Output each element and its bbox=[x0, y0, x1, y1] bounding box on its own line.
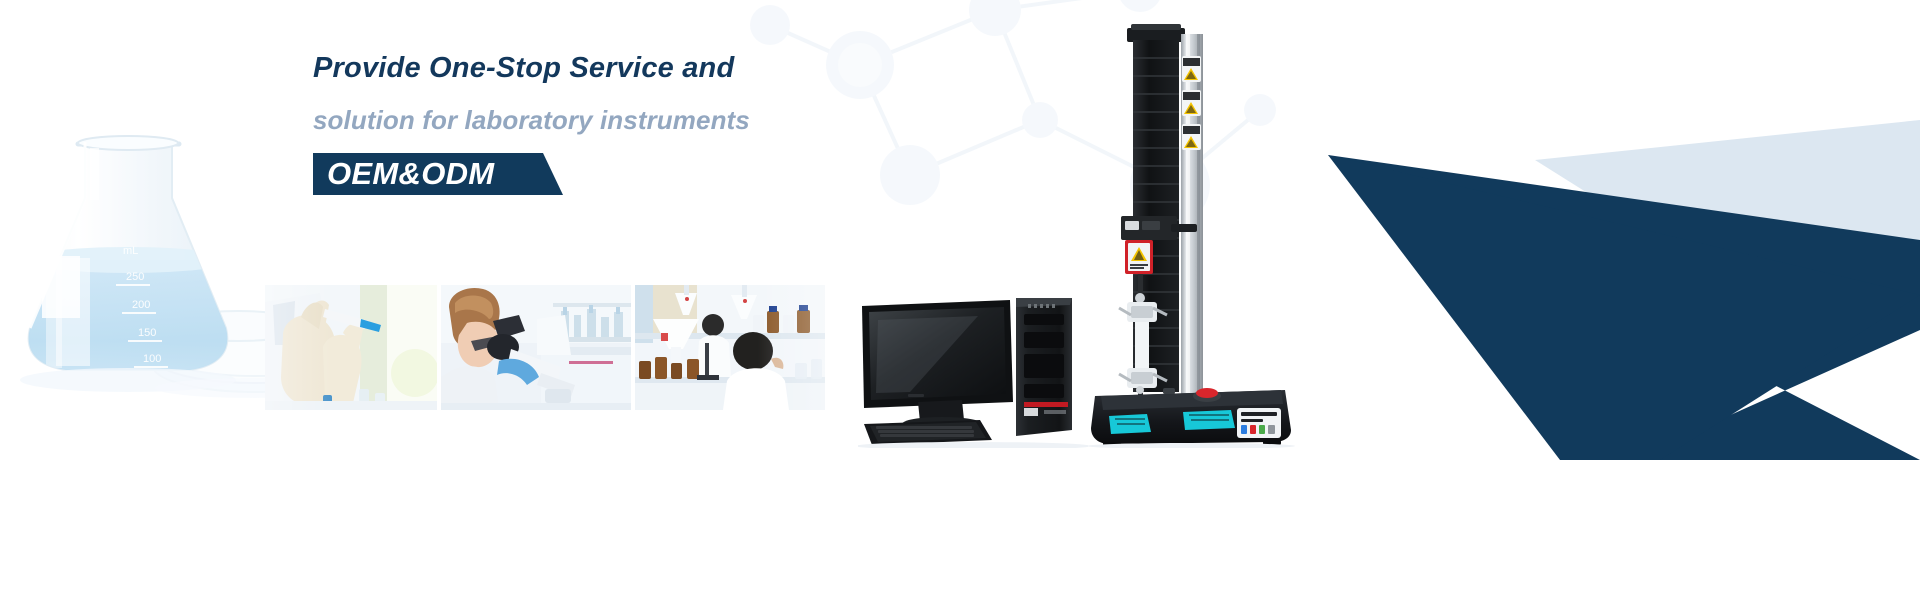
photo-pipetting-gloved-hands bbox=[265, 285, 437, 410]
arrow-dark-chevron-lower bbox=[1328, 155, 1920, 460]
photo-scientist-at-microscope bbox=[441, 285, 631, 410]
headline-block: Provide One-Stop Service and solution fo… bbox=[313, 54, 873, 195]
arrow-light-triangle bbox=[1535, 120, 1920, 280]
computer-workstation bbox=[858, 298, 1088, 448]
svg-text:mL: mL bbox=[123, 245, 138, 257]
svg-text:150: 150 bbox=[138, 327, 156, 339]
hero-banner: mL 250 200 150 100 Provide One-Stop Serv… bbox=[0, 0, 1920, 597]
red-warning-plate bbox=[1125, 240, 1153, 274]
keyboard bbox=[864, 420, 992, 445]
photo-strip bbox=[265, 285, 825, 410]
erlenmeyer-flask: mL 250 200 150 100 bbox=[0, 136, 290, 408]
lcd-monitor bbox=[862, 300, 1013, 431]
warning-labels bbox=[1182, 56, 1201, 150]
headline-line-1: Provide One-Stop Service and bbox=[313, 54, 873, 83]
universal-testing-machine bbox=[1085, 18, 1300, 448]
svg-text:100: 100 bbox=[143, 353, 161, 365]
desktop-tower bbox=[1016, 298, 1072, 436]
photo-lab-technicians-workbench bbox=[635, 285, 825, 410]
oem-odm-badge: OEM&ODM bbox=[313, 153, 563, 195]
badge-label: OEM&ODM bbox=[327, 156, 494, 192]
svg-text:250: 250 bbox=[126, 271, 144, 283]
headline-line-2: solution for laboratory instruments bbox=[313, 107, 873, 133]
svg-text:200: 200 bbox=[132, 299, 150, 311]
machine-base bbox=[1091, 388, 1291, 447]
arrow-dark-chevron bbox=[1328, 155, 1920, 460]
